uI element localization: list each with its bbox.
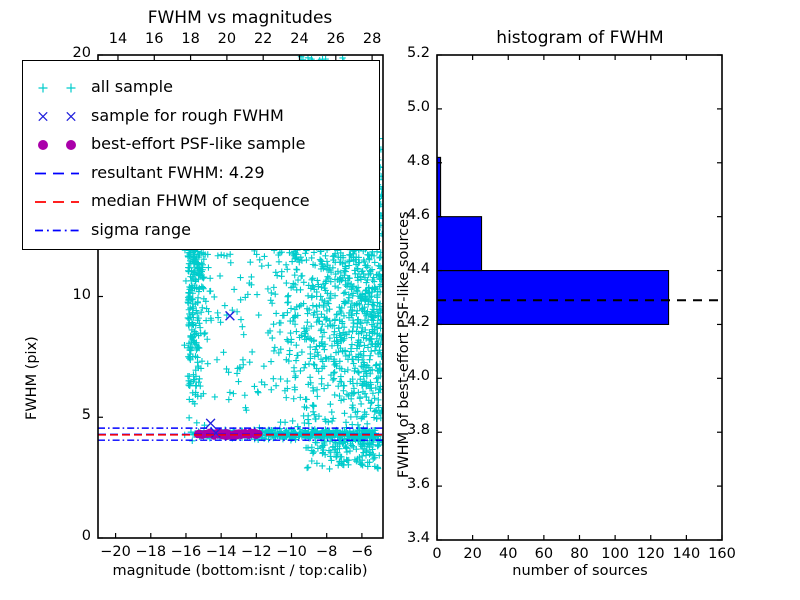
left-xtick-5: −10	[276, 544, 307, 560]
right-xtick-2: 40	[499, 546, 517, 562]
figure-canvas: FWHM vs magnitudes magnitude (bottom:isn…	[0, 0, 800, 600]
right-xtick-5: 100	[601, 546, 629, 562]
scatter-rough-sample	[206, 311, 234, 437]
right-ytick-8: 5.0	[407, 99, 430, 115]
right-ytick-9: 5.2	[407, 45, 430, 61]
left-top-xtick-6: 26	[327, 31, 345, 47]
legend-label-0: all sample	[91, 77, 173, 96]
left-xtick-4: −12	[241, 544, 272, 560]
legend-marker-0	[39, 84, 76, 93]
left-panel-xlabel: magnitude (bottom:isnt / top:calib)	[112, 563, 367, 579]
left-top-xtick-5: 24	[290, 31, 308, 47]
left-top-xtick-4: 22	[254, 31, 272, 47]
left-xtick-2: −16	[171, 544, 202, 560]
right-xtick-7: 140	[673, 546, 701, 562]
right-ytick-7: 4.8	[407, 153, 430, 169]
legend-box: all samplesample for rough FWHMbest-effo…	[22, 60, 380, 250]
legend-label-4: median FHWM of sequence	[91, 191, 310, 210]
right-xtick-3: 60	[535, 546, 553, 562]
left-xtick-7: −6	[351, 544, 372, 560]
histogram-bar	[437, 271, 669, 325]
right-panel-xlabel: number of sources	[512, 563, 648, 579]
histogram-bar	[437, 217, 482, 271]
right-axes-frame	[437, 55, 722, 540]
right-ytick-5: 4.4	[407, 261, 430, 277]
left-reference-lines	[98, 428, 383, 440]
left-top-xtick-7: 28	[363, 31, 381, 47]
right-ytick-2: 3.8	[407, 422, 430, 438]
left-panel-ylabel: FWHM (pix)	[24, 336, 40, 420]
right-xtick-4: 80	[570, 546, 588, 562]
right-ytick-3: 4.0	[407, 368, 430, 384]
left-ytick-1: 5	[82, 407, 91, 423]
legend-label-1: sample for rough FWHM	[91, 106, 284, 125]
legend-label-3: resultant FWHM: 4.29	[91, 163, 265, 182]
histogram-bars	[437, 157, 669, 324]
right-xtick-0: 0	[432, 546, 441, 562]
left-top-xtick-3: 20	[218, 31, 236, 47]
histogram-bar	[437, 157, 441, 216]
left-ytick-2: 10	[73, 287, 91, 303]
legend-marker-1	[39, 112, 75, 120]
left-top-xtick-0: 14	[109, 31, 127, 47]
left-ytick-0: 0	[82, 528, 91, 544]
right-xtick-8: 160	[708, 546, 736, 562]
left-panel-title: FWHM vs magnitudes	[148, 8, 333, 28]
left-top-xtick-2: 18	[181, 31, 199, 47]
left-xtick-0: −20	[100, 544, 131, 560]
right-xtick-1: 20	[463, 546, 481, 562]
scatter-psf-sample	[194, 428, 263, 440]
right-panel-title: histogram of FWHM	[496, 28, 663, 48]
right-ytick-0: 3.4	[407, 530, 430, 546]
legend-label-2: best-effort PSF-like sample	[91, 134, 305, 153]
right-ytick-1: 3.6	[407, 476, 430, 492]
left-ytick-3: 20	[73, 45, 91, 61]
legend-label-5: sigma range	[91, 220, 191, 239]
right-ytick-4: 4.2	[407, 314, 430, 330]
legend-marker-2	[38, 140, 76, 150]
left-xtick-6: −8	[316, 544, 337, 560]
left-top-xtick-1: 16	[145, 31, 163, 47]
legend-markers	[23, 61, 379, 249]
right-ytick-6: 4.6	[407, 207, 430, 223]
left-xtick-1: −18	[135, 544, 166, 560]
right-xtick-6: 120	[637, 546, 665, 562]
left-xtick-3: −14	[206, 544, 237, 560]
